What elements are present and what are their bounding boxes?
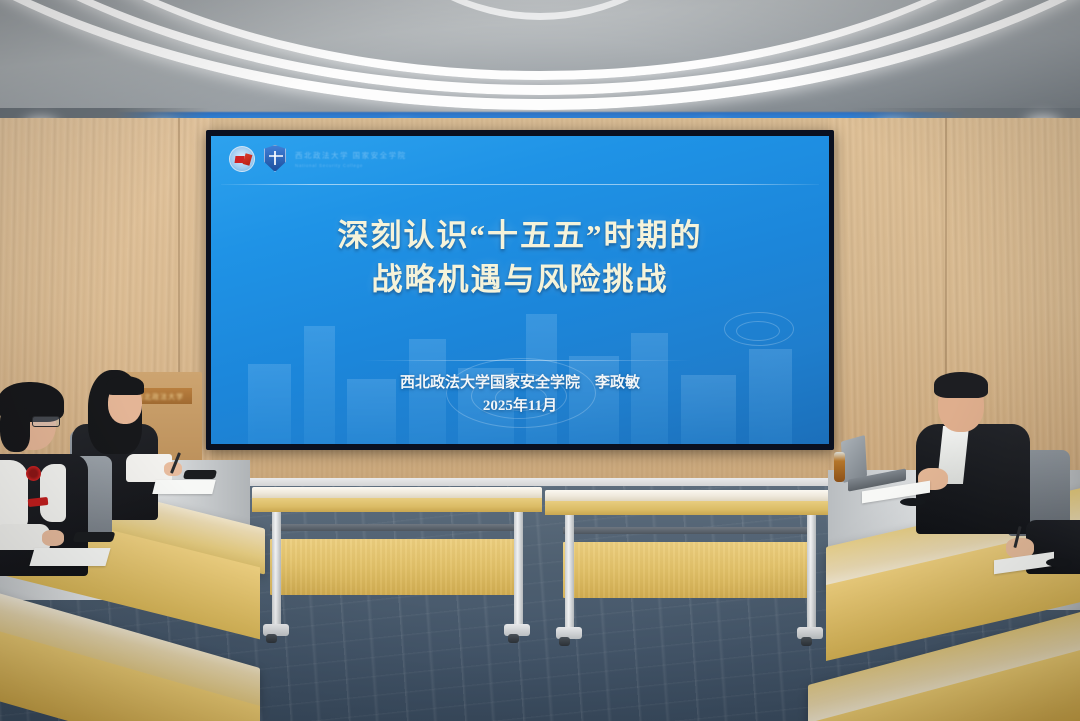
table-apron — [545, 501, 835, 515]
table-caster-left — [559, 637, 570, 646]
folding-table-right[interactable] — [545, 490, 835, 660]
slide-subtitle-line-2: 2025年11月 — [211, 395, 829, 418]
table-caster-right — [801, 637, 812, 646]
hair — [934, 372, 988, 398]
collar-left — [0, 460, 28, 530]
table-leg-left — [565, 515, 574, 630]
slide-logo-row: 西北政法大学 国家安全学院 National Security College — [229, 145, 407, 172]
slide-logo-text-primary: 西北政法大学 国家安全学院 — [295, 150, 407, 161]
cable-cutout-1 — [900, 498, 926, 506]
table-leg-right — [807, 515, 816, 630]
flower-brooch-badge — [26, 466, 41, 481]
security-shield-icon — [264, 145, 286, 172]
slide-subtitle-line-1: 西北政法大学国家安全学院 李政敏 — [211, 372, 829, 395]
slide-title-line-2: 战略机遇与风险挑战 — [211, 258, 829, 302]
table-leg-left — [272, 512, 281, 627]
table-shelf — [270, 524, 520, 531]
water-bottle — [834, 452, 845, 482]
led-video-wall[interactable]: 西北政法大学 国家安全学院 National Security College … — [206, 130, 834, 450]
university-emblem-icon — [229, 146, 255, 172]
presentation-slide: 西北政法大学 国家安全学院 National Security College … — [211, 136, 829, 444]
hand — [42, 530, 64, 546]
table-caster-left — [266, 634, 277, 643]
slide-ripple-5 — [736, 321, 780, 341]
table-shelf — [563, 527, 813, 534]
phone — [183, 470, 217, 479]
table-modesty-panel — [563, 542, 813, 598]
slide-title-line-1: 深刻认识“十五五”时期的 — [211, 214, 829, 258]
phone — [73, 532, 116, 542]
collar-right — [40, 464, 66, 522]
cable-cutout-2 — [1046, 558, 1072, 567]
glasses-icon — [32, 416, 60, 427]
slide-logo-text-secondary: National Security College — [295, 163, 407, 168]
attendee-right-foreground — [1000, 520, 1080, 640]
slide-subtitle: 西北政法大学国家安全学院 李政敏 2025年11月 — [211, 372, 829, 419]
papers — [152, 480, 215, 494]
table-apron — [252, 498, 542, 512]
slide-title: 深刻认识“十五五”时期的 战略机遇与风险挑战 — [211, 214, 829, 302]
hair-side — [0, 408, 30, 452]
slide-subtitle-divider — [361, 360, 691, 361]
table-leg-right — [514, 512, 523, 627]
table-modesty-panel — [270, 539, 520, 595]
conference-room-screenshot: 西北政法大学 国家安全学院 National Security College … — [0, 0, 1080, 721]
slide-header-divider — [221, 184, 819, 185]
attendee-left-front — [0, 382, 118, 592]
slide-logo-text: 西北政法大学 国家安全学院 National Security College — [295, 150, 407, 168]
table-caster-right — [508, 634, 519, 643]
notebook — [29, 548, 110, 566]
folding-table-left[interactable] — [252, 487, 542, 657]
